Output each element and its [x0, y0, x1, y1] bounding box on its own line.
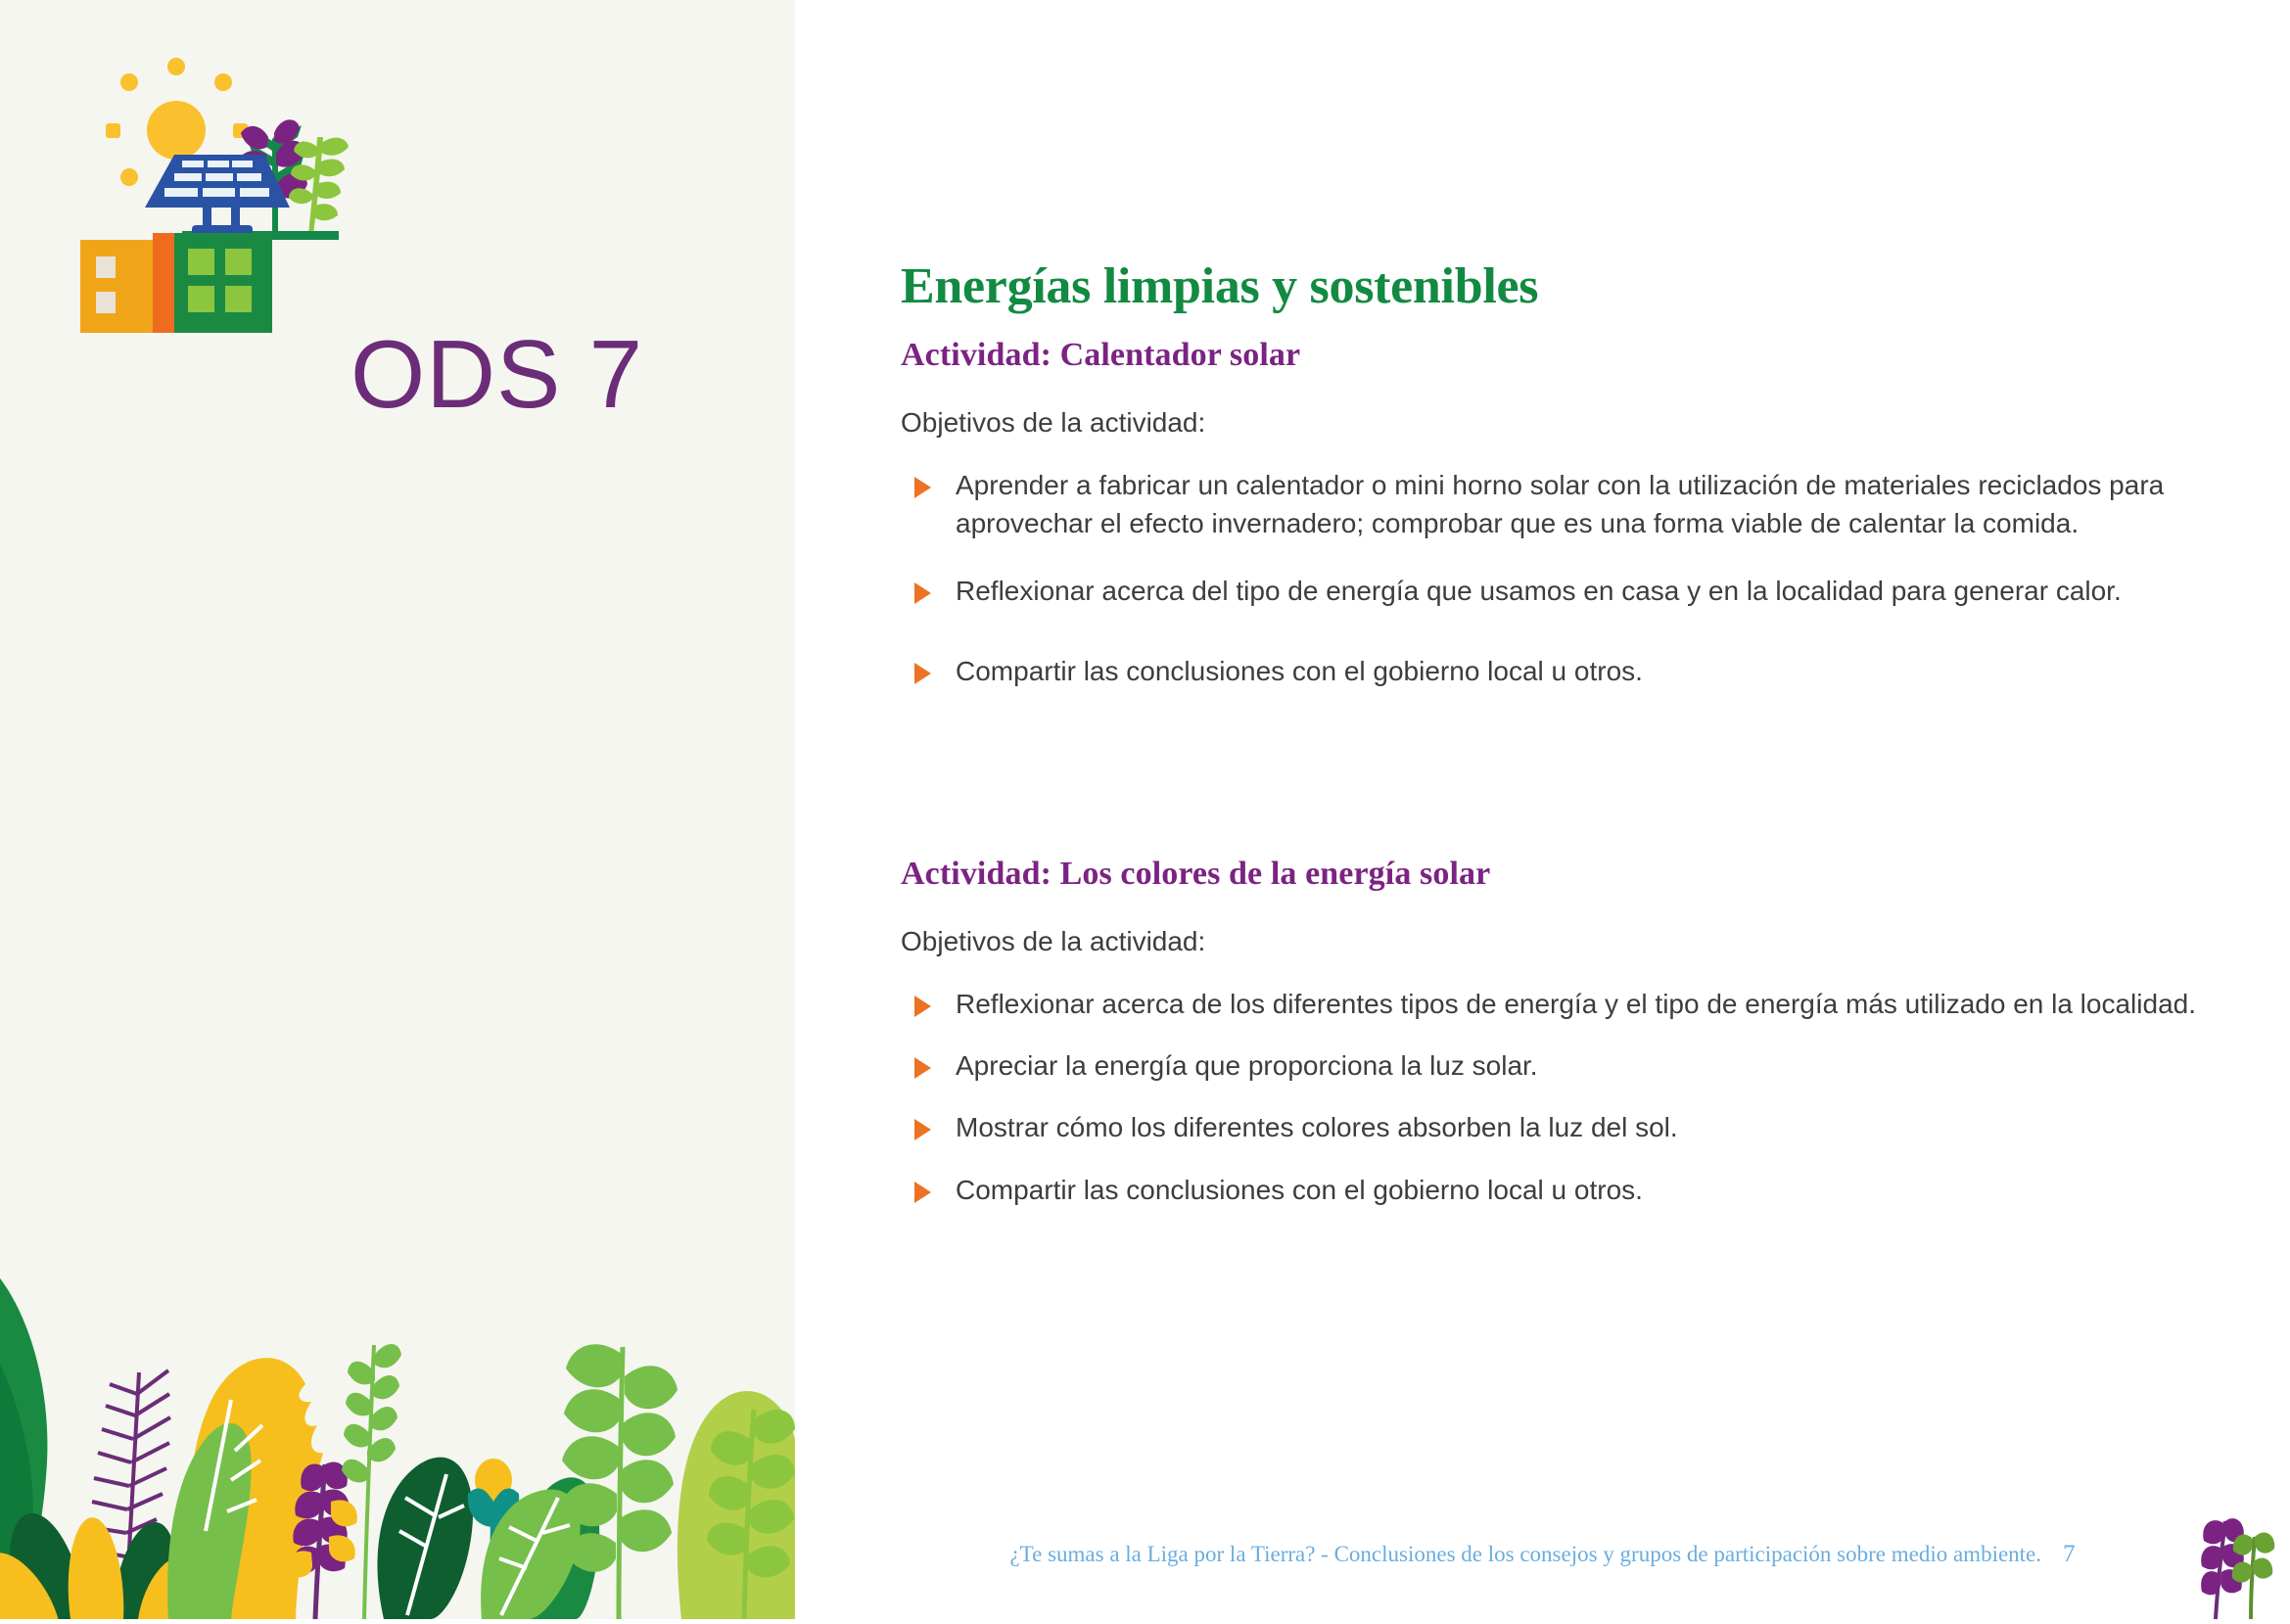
list-item-text: Apreciar la energía que proporciona la l…: [956, 1050, 1538, 1081]
triangle-bullet-icon: [914, 477, 931, 498]
objectives-label-2: Objetivos de la actividad:: [901, 926, 2203, 957]
page-content: Energías limpias y sostenibles Actividad…: [795, 0, 2290, 1619]
page-number: 7: [2063, 1541, 2076, 1568]
list-item-text: Aprender a fabricar un calentador o mini…: [956, 470, 2164, 538]
foliage-border-icon: [0, 1208, 795, 1619]
objectives-label-1: Objetivos de la actividad:: [901, 407, 2203, 439]
list-item-text: Reflexionar acerca del tipo de energía q…: [956, 576, 2122, 606]
list-item: Aprender a fabricar un calentador o mini…: [901, 466, 2203, 542]
objectives-list-2: Reflexionar acerca de los diferentes tip…: [901, 985, 2203, 1209]
triangle-bullet-icon: [914, 663, 931, 684]
list-item-text: Reflexionar acerca de los diferentes tip…: [956, 989, 2196, 1019]
list-item: Compartir las conclusiones con el gobier…: [901, 1171, 2203, 1209]
list-item: Apreciar la energía que proporciona la l…: [901, 1046, 2203, 1085]
list-item-text: Compartir las conclusiones con el gobier…: [956, 1175, 1643, 1205]
solar-panel-icon: [145, 155, 290, 235]
activity-section-2: Actividad: Los colores de la energía sol…: [901, 856, 2203, 1209]
list-item: Reflexionar acerca de los diferentes tip…: [901, 985, 2203, 1023]
footer-text: ¿Te sumas a la Liga por la Tierra? - Con…: [1009, 1542, 2041, 1566]
list-item: Mostrar cómo los diferentes colores abso…: [901, 1108, 2203, 1146]
ods-number-label: ODS 7: [351, 326, 643, 422]
ods7-illustration: [59, 39, 685, 333]
triangle-bullet-icon: [914, 1057, 931, 1079]
orange-building-icon: [80, 233, 174, 333]
activity-section-1: Actividad: Calentador solar Objetivos de…: [901, 337, 2203, 690]
list-item: Compartir las conclusiones con el gobier…: [901, 652, 2203, 690]
triangle-bullet-icon: [914, 1119, 931, 1140]
sprig-icon: [2165, 1492, 2282, 1619]
list-item-text: Mostrar cómo los diferentes colores abso…: [956, 1112, 1678, 1142]
list-item-text: Compartir las conclusiones con el gobier…: [956, 656, 1643, 686]
triangle-bullet-icon: [914, 582, 931, 604]
triangle-bullet-icon: [914, 1182, 931, 1203]
footer: ¿Te sumas a la Liga por la Tierra? - Con…: [795, 1541, 2290, 1568]
green-building-icon: [174, 233, 272, 333]
triangle-bullet-icon: [914, 996, 931, 1017]
objectives-list-1: Aprender a fabricar un calentador o mini…: [901, 466, 2203, 690]
page-title: Energías limpias y sostenibles: [901, 257, 1538, 315]
activity-heading-2: Actividad: Los colores de la energía sol…: [901, 856, 2203, 893]
activity-heading-1: Actividad: Calentador solar: [901, 337, 2203, 374]
list-item: Reflexionar acerca del tipo de energía q…: [901, 572, 2203, 610]
left-decorative-panel: ODS 7: [0, 0, 795, 1619]
